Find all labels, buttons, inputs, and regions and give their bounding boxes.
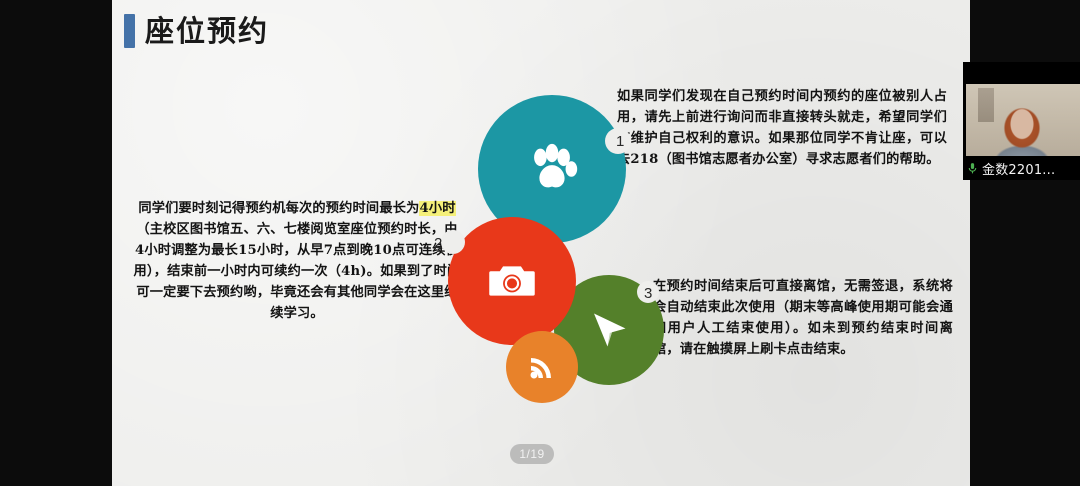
participant-webcam-image: [966, 84, 1080, 156]
screen-share-view: 座位预约 如果同学们发现在自己预约时间内预约的座位被别人占用，请先上前进行询问而…: [0, 0, 1080, 486]
page-indicator: 1/19: [510, 444, 554, 464]
participant-name-bar: 金数2201...: [966, 158, 1080, 178]
rss-icon: [526, 351, 558, 383]
circle-2-number: 2: [434, 235, 442, 252]
microphone-icon: [966, 161, 979, 176]
paw-icon: [521, 138, 583, 200]
paragraph-left-part2: （主校区图书馆五、六、七楼阅览室座位预约时长，由4小时调整为最长15小时，从早7…: [134, 222, 461, 321]
circle-4-orange: [506, 331, 578, 403]
camera-icon: [486, 255, 538, 307]
circle-1-number: 1: [616, 133, 624, 150]
video-frame[interactable]: [966, 84, 1080, 156]
slide-title-row: 座位预约: [124, 14, 269, 48]
circle-graphics-group: 1 2: [442, 95, 682, 430]
participant-name: 金数2201...: [982, 159, 1055, 178]
paragraph-left-part1: 同学们要时刻记得预约机每次的预约时间最长为: [138, 201, 419, 216]
paragraph-left: 同学们要时刻记得预约机每次的预约时间最长为4小时（主校区图书馆五、六、七楼阅览室…: [132, 198, 462, 324]
paragraph-bottom-right: 在预约时间结束后可直接离馆，无需签退，系统将会自动结束此次使用（期末等高峰使用期…: [653, 276, 953, 360]
circle-2-notch: [441, 230, 465, 254]
circle-2-red: [448, 217, 576, 345]
page-title: 座位预约: [145, 17, 269, 46]
cursor-icon: [585, 306, 633, 354]
circle-3-number: 3: [644, 285, 652, 302]
participant-video-tile[interactable]: 金数2201...: [963, 62, 1080, 180]
presentation-slide: 座位预约 如果同学们发现在自己预约时间内预约的座位被别人占用，请先上前进行询问而…: [112, 0, 970, 486]
title-accent-bar: [124, 14, 135, 48]
